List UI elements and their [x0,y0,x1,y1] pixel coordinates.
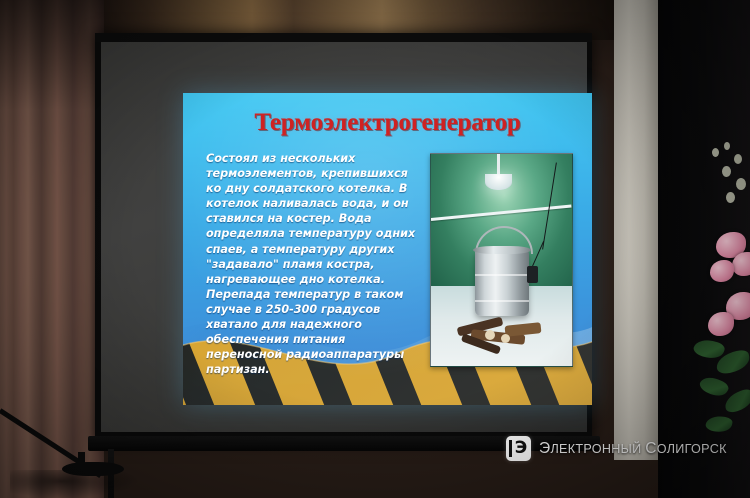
photo-log-end-2 [501,334,510,343]
photo-lamp-stem [497,154,500,176]
photo-kettle-band-1 [475,274,529,276]
mic-stand-base [62,462,124,476]
slide-photo-thermogenerator [430,153,573,367]
watermark-text-lektronny: ЛЕКТРОННЫЙ [550,442,645,456]
photo-lamp-shade [485,174,512,190]
photo-thermo-module [527,266,538,283]
watermark-text: ЭЛЕКТРОННЫЙ СОЛИГОРСК [539,440,727,458]
watermark-text-e: Э [539,440,550,457]
logo-glyph: Э [514,438,528,459]
projection-screen-top-bar [95,33,592,42]
photo-kettle-body [475,250,529,316]
slide-body-text: Состоял из нескольких термоэлементов, кр… [206,151,418,377]
watermark: Э ЭЛЕКТРОННЫЙ СОЛИГОРСК [506,436,727,461]
presentation-slide: Термоэлектрогенератор Состоял из несколь… [183,93,592,405]
watermark-text-s: С [645,440,657,457]
photo-log-end-1 [485,330,495,340]
photo-kettle-rim [473,246,531,254]
flower-arrangement [654,140,750,470]
watermark-text-oligorsk: ОЛИГОРСК [657,442,727,456]
electronic-soligorsk-logo-icon: Э [506,436,531,461]
slide-title: Термоэлектрогенератор [183,109,592,137]
logo-bar [509,440,512,457]
screenshot-scene: Термоэлектрогенератор Состоял из несколь… [0,0,750,498]
photo-kettle-band-2 [475,300,529,302]
